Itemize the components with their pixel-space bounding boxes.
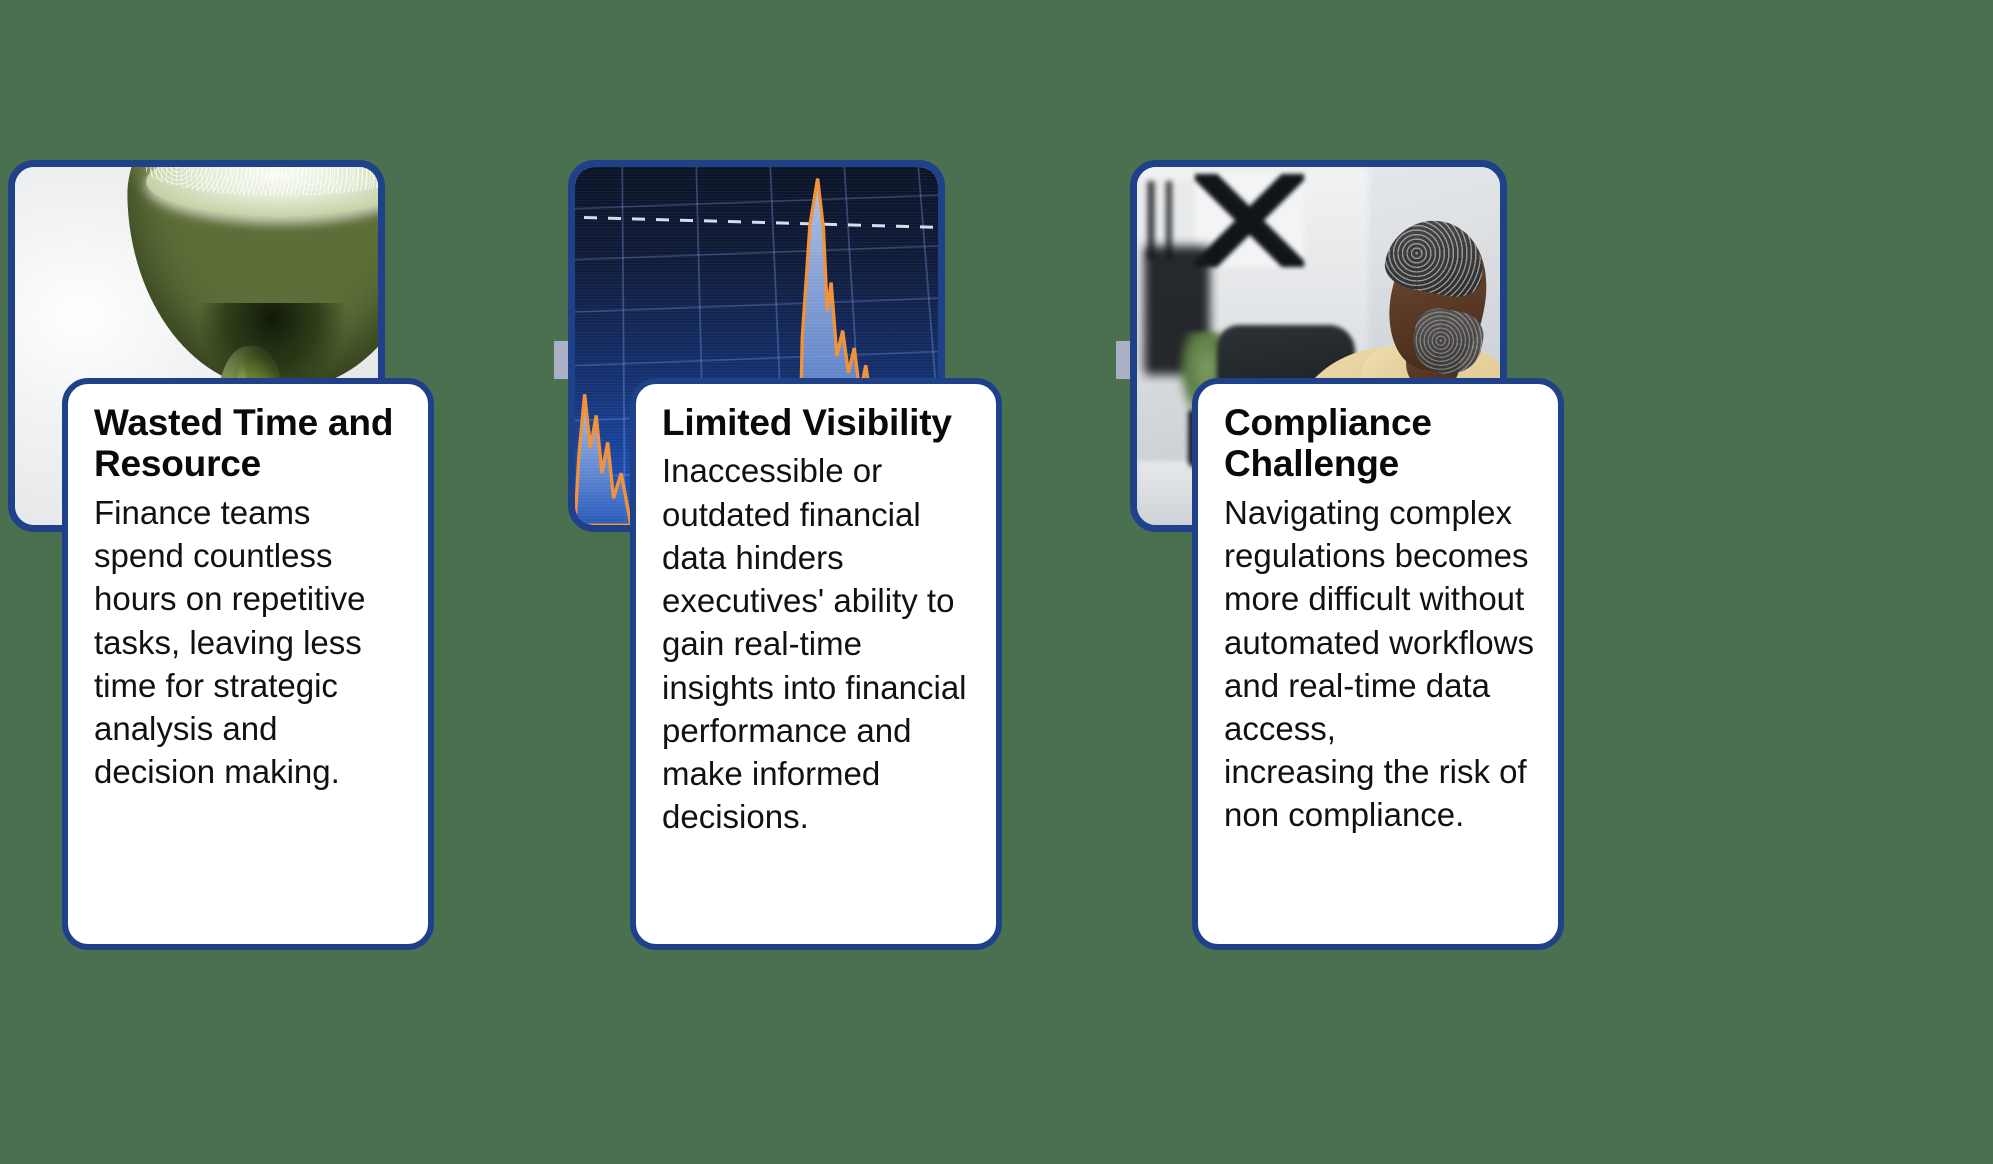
card-limited-visibility: Limited Visibility Inaccessible or outda…	[630, 378, 1002, 950]
card-body-compliance-challenge: Navigating complex regulations becomes m…	[1224, 491, 1534, 837]
card-title-wasted-time: Wasted Time and Resource	[94, 402, 404, 485]
card-title-compliance-challenge: Compliance Challenge	[1224, 402, 1534, 485]
card-body-wasted-time: Finance teams spend countless hours on r…	[94, 491, 404, 794]
card-title-limited-visibility: Limited Visibility	[662, 402, 972, 443]
card-wasted-time: Wasted Time and Resource Finance teams s…	[62, 378, 434, 950]
card-body-limited-visibility: Inaccessible or outdated financial data …	[662, 449, 972, 838]
office-wall-art	[1195, 174, 1304, 267]
card-compliance-challenge: Compliance Challenge Navigating complex …	[1192, 378, 1564, 950]
